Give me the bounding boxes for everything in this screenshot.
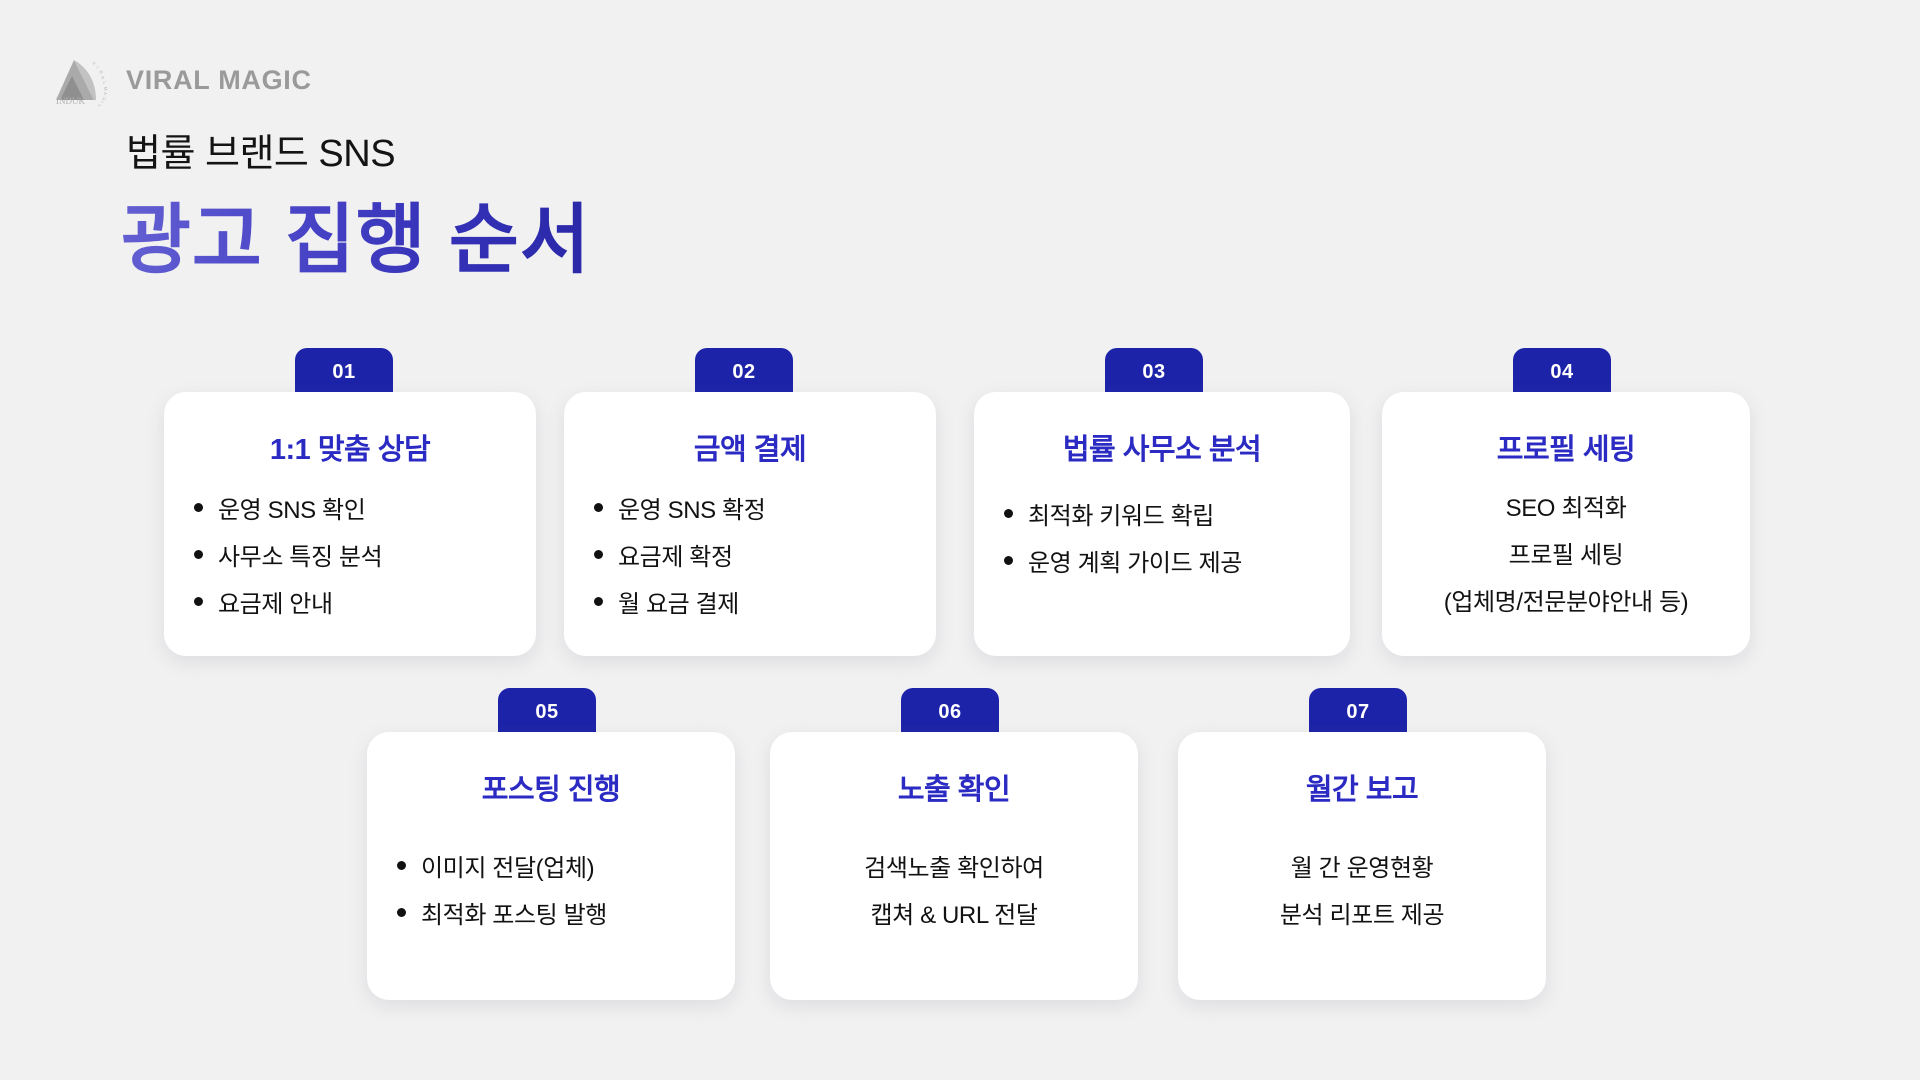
step-card: 법률 사무소 분석 최적화 키워드 확립 운영 계획 가이드 제공 <box>974 392 1350 656</box>
list-item: 최적화 포스팅 발행 <box>397 895 709 930</box>
list-item: 이미지 전달(업체) <box>397 848 709 883</box>
step-body: 최적화 키워드 확립 운영 계획 가이드 제공 <box>1000 496 1324 578</box>
bullet-icon <box>194 550 203 559</box>
step-item-list: 최적화 키워드 확립 운영 계획 가이드 제공 <box>1000 496 1324 578</box>
list-item-label: 사무소 특징 분석 <box>218 537 382 572</box>
list-item-label: 이미지 전달(업체) <box>421 848 594 883</box>
step-item-list: 월 간 운영현황 분석 리포트 제공 <box>1204 848 1520 930</box>
step-title: 월간 보고 <box>1306 766 1418 808</box>
list-item-label: 요금제 안내 <box>218 584 333 619</box>
list-item: 요금제 안내 <box>194 584 510 619</box>
step-title: 법률 사무소 분석 <box>1063 426 1261 468</box>
step-card: 금액 결제 운영 SNS 확정 요금제 확정 월 요금 결제 <box>564 392 936 656</box>
step-card: 프로필 세팅 SEO 최적화 프로필 세팅 (업체명/전문분야안내 등) <box>1382 392 1750 656</box>
list-item-label: 최적화 키워드 확립 <box>1028 496 1214 531</box>
list-item-label: 최적화 포스팅 발행 <box>421 895 607 930</box>
bullet-icon <box>594 550 603 559</box>
list-item: 운영 계획 가이드 제공 <box>1004 543 1324 578</box>
list-item: 운영 SNS 확인 <box>194 490 510 525</box>
list-item: 분석 리포트 제공 <box>1280 895 1444 930</box>
step-item-list: SEO 최적화 프로필 세팅 (업체명/전문분야안내 등) <box>1408 488 1724 617</box>
list-item: 최적화 키워드 확립 <box>1004 496 1324 531</box>
list-item: (업체명/전문분야안내 등) <box>1444 582 1689 617</box>
list-item: SEO 최적화 <box>1506 488 1627 523</box>
step-body: SEO 최적화 프로필 세팅 (업체명/전문분야안내 등) <box>1408 488 1724 617</box>
step-card: 1:1 맞춤 상담 운영 SNS 확인 사무소 특징 분석 요금제 안내 <box>164 392 536 656</box>
step-body: 운영 SNS 확정 요금제 확정 월 요금 결제 <box>590 490 910 619</box>
step-body: 이미지 전달(업체) 최적화 포스팅 발행 <box>393 848 709 930</box>
list-item-label: 운영 SNS 확인 <box>218 490 365 525</box>
step-item-list: 검색노출 확인하여 캡쳐 & URL 전달 <box>796 848 1112 930</box>
step-item-list: 운영 SNS 확정 요금제 확정 월 요금 결제 <box>590 490 910 619</box>
step-title: 프로필 세팅 <box>1497 426 1635 468</box>
step-number-badge: 03 <box>1105 348 1203 396</box>
list-item-label: 월 요금 결제 <box>618 584 739 619</box>
step-title: 포스팅 진행 <box>482 766 620 808</box>
bullet-icon <box>594 597 603 606</box>
bullet-icon <box>397 908 406 917</box>
list-item: 운영 SNS 확정 <box>594 490 910 525</box>
bullet-icon <box>194 503 203 512</box>
step-number-badge: 07 <box>1309 688 1407 736</box>
step-number-badge: 04 <box>1513 348 1611 396</box>
step-card: 월간 보고 월 간 운영현황 분석 리포트 제공 <box>1178 732 1546 1000</box>
step-item-list: 이미지 전달(업체) 최적화 포스팅 발행 <box>393 848 709 930</box>
bullet-icon <box>397 861 406 870</box>
list-item: 월 요금 결제 <box>594 584 910 619</box>
step-card: 포스팅 진행 이미지 전달(업체) 최적화 포스팅 발행 <box>367 732 735 1000</box>
list-item: 캡쳐 & URL 전달 <box>870 895 1037 930</box>
step-title: 노출 확인 <box>898 766 1010 808</box>
list-item: 요금제 확정 <box>594 537 910 572</box>
step-title: 1:1 맞춤 상담 <box>270 426 430 468</box>
list-item: 프로필 세팅 <box>1509 535 1624 570</box>
process-steps: 01 1:1 맞춤 상담 운영 SNS 확인 사무소 특징 분석 요금제 안내 … <box>0 0 1920 1080</box>
list-item-label: 운영 계획 가이드 제공 <box>1028 543 1242 578</box>
step-item-list: 운영 SNS 확인 사무소 특징 분석 요금제 안내 <box>190 490 510 619</box>
step-number-badge: 05 <box>498 688 596 736</box>
step-number-badge: 01 <box>295 348 393 396</box>
list-item: 사무소 특징 분석 <box>194 537 510 572</box>
step-number-badge: 02 <box>695 348 793 396</box>
list-item-label: 운영 SNS 확정 <box>618 490 765 525</box>
bullet-icon <box>1004 556 1013 565</box>
bullet-icon <box>594 503 603 512</box>
list-item-label: 요금제 확정 <box>618 537 733 572</box>
step-body: 월 간 운영현황 분석 리포트 제공 <box>1204 848 1520 930</box>
step-body: 운영 SNS 확인 사무소 특징 분석 요금제 안내 <box>190 490 510 619</box>
bullet-icon <box>1004 509 1013 518</box>
list-item: 월 간 운영현황 <box>1291 848 1434 883</box>
step-title: 금액 결제 <box>694 426 806 468</box>
step-body: 검색노출 확인하여 캡쳐 & URL 전달 <box>796 848 1112 930</box>
step-number-badge: 06 <box>901 688 999 736</box>
bullet-icon <box>194 597 203 606</box>
step-card: 노출 확인 검색노출 확인하여 캡쳐 & URL 전달 <box>770 732 1138 1000</box>
list-item: 검색노출 확인하여 <box>864 848 1044 883</box>
